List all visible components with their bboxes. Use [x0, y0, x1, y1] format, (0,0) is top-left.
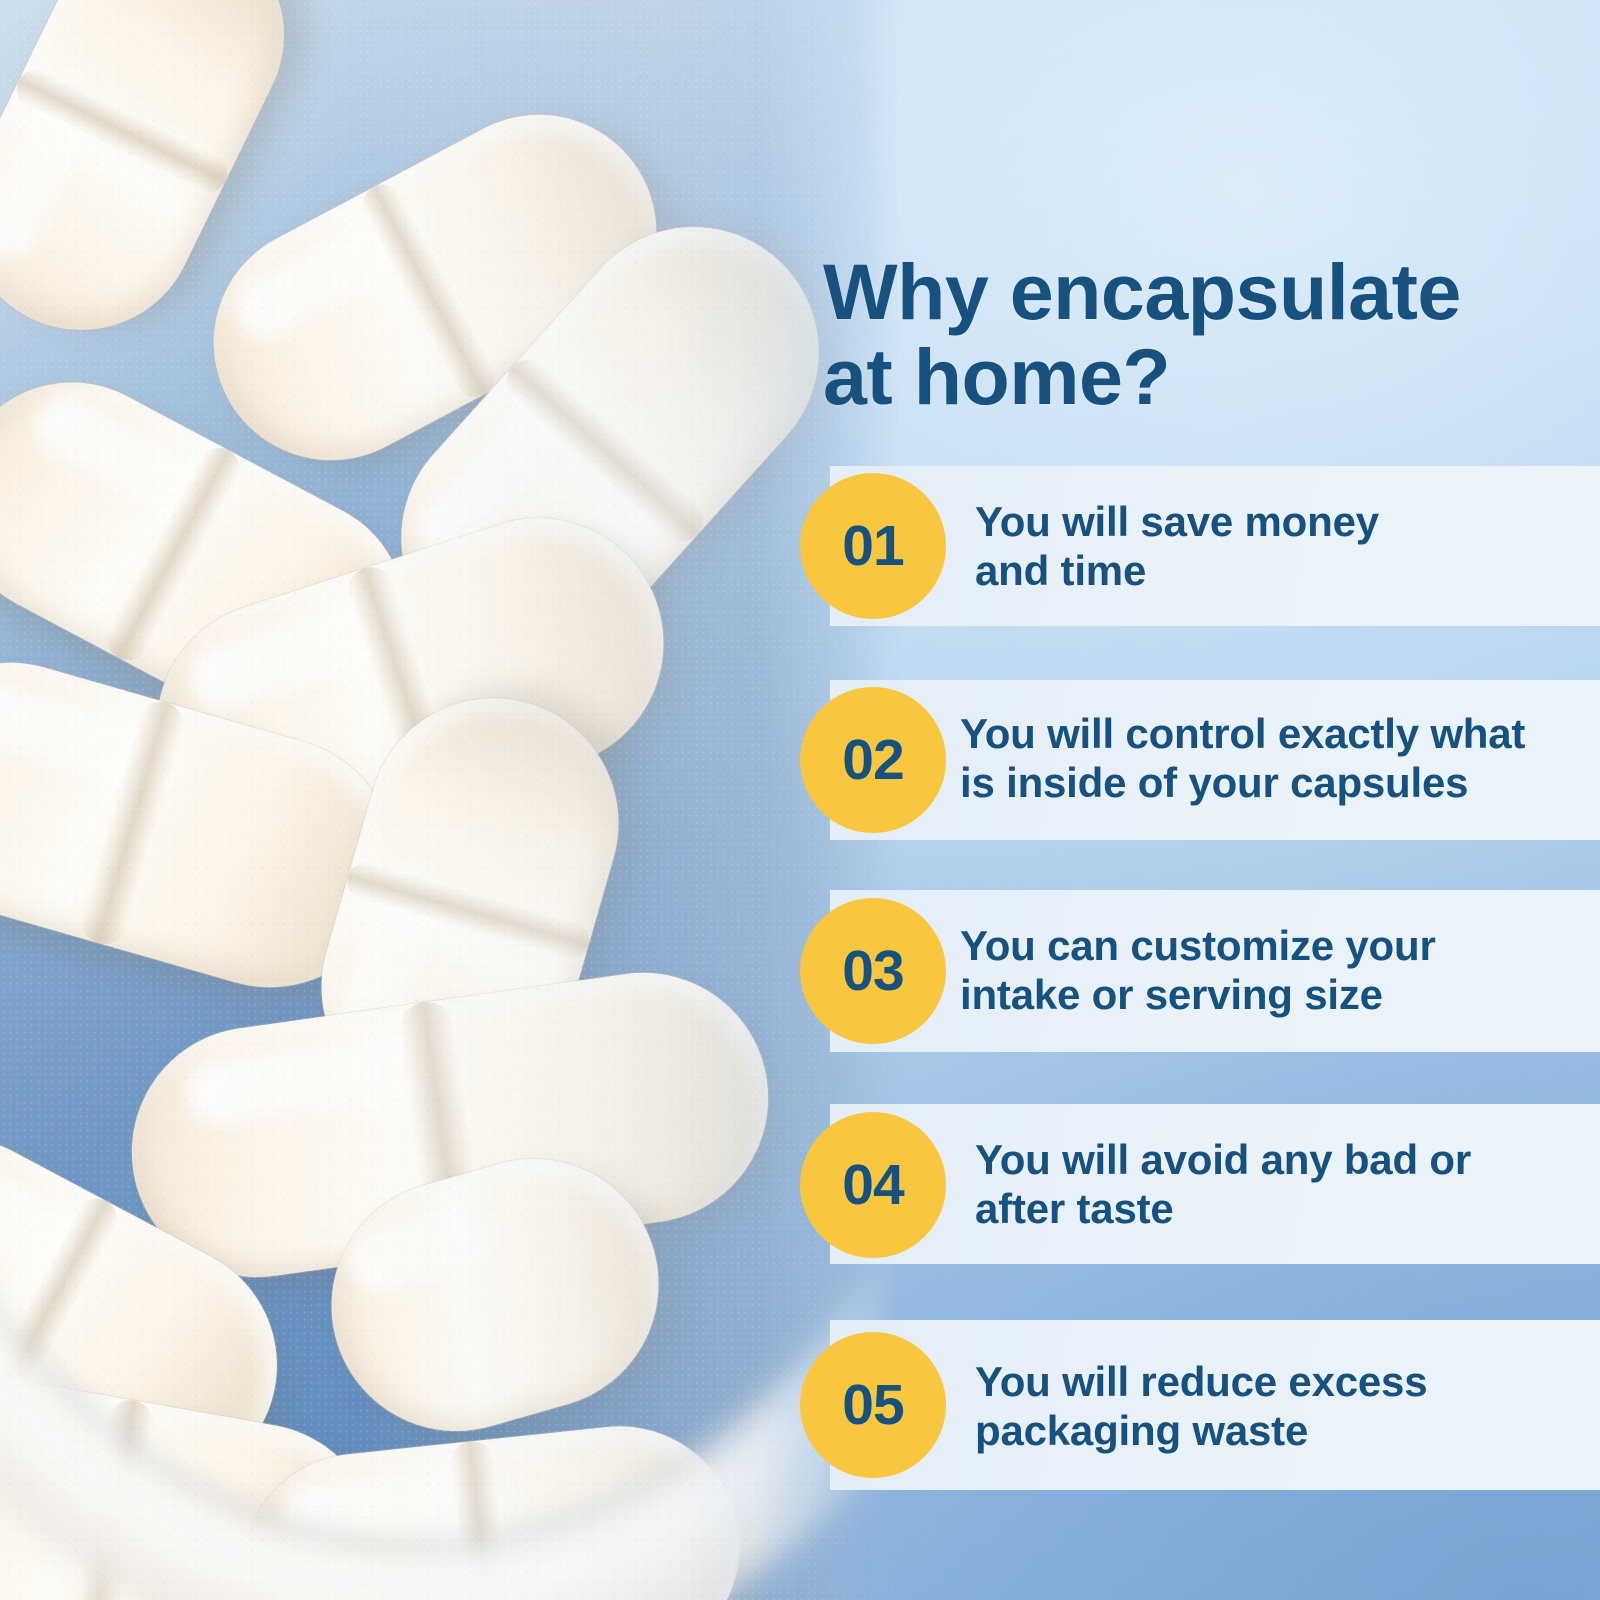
- list-item[interactable]: 04 You will avoid any bad or after taste: [0, 1104, 1600, 1264]
- list-item-label: You will save money and time: [975, 498, 1560, 595]
- infographic-poster: Why encapsulate at home? 01 You will sav…: [0, 0, 1600, 1600]
- page-title: Why encapsulate at home?: [823, 249, 1543, 420]
- list-item-number-badge: 01: [800, 473, 946, 619]
- list-item[interactable]: 05 You will reduce excess packaging wast…: [0, 1320, 1600, 1490]
- list-item-number-badge: 05: [800, 1332, 946, 1478]
- list-item-number-badge: 02: [800, 687, 946, 833]
- list-item[interactable]: 03 You can customize your intake or serv…: [0, 890, 1600, 1052]
- list-item-number-badge: 04: [800, 1112, 946, 1258]
- list-item-label: You can customize your intake or serving…: [960, 922, 1560, 1019]
- list-item[interactable]: 02 You will control exactly what is insi…: [0, 680, 1600, 840]
- list-item-number-badge: 03: [800, 898, 946, 1044]
- list-item-label: You will reduce excess packaging waste: [975, 1358, 1560, 1455]
- list-item-label: You will avoid any bad or after taste: [975, 1136, 1560, 1233]
- list-item-label: You will control exactly what is inside …: [960, 710, 1560, 807]
- list-item[interactable]: 01 You will save money and time: [0, 466, 1600, 626]
